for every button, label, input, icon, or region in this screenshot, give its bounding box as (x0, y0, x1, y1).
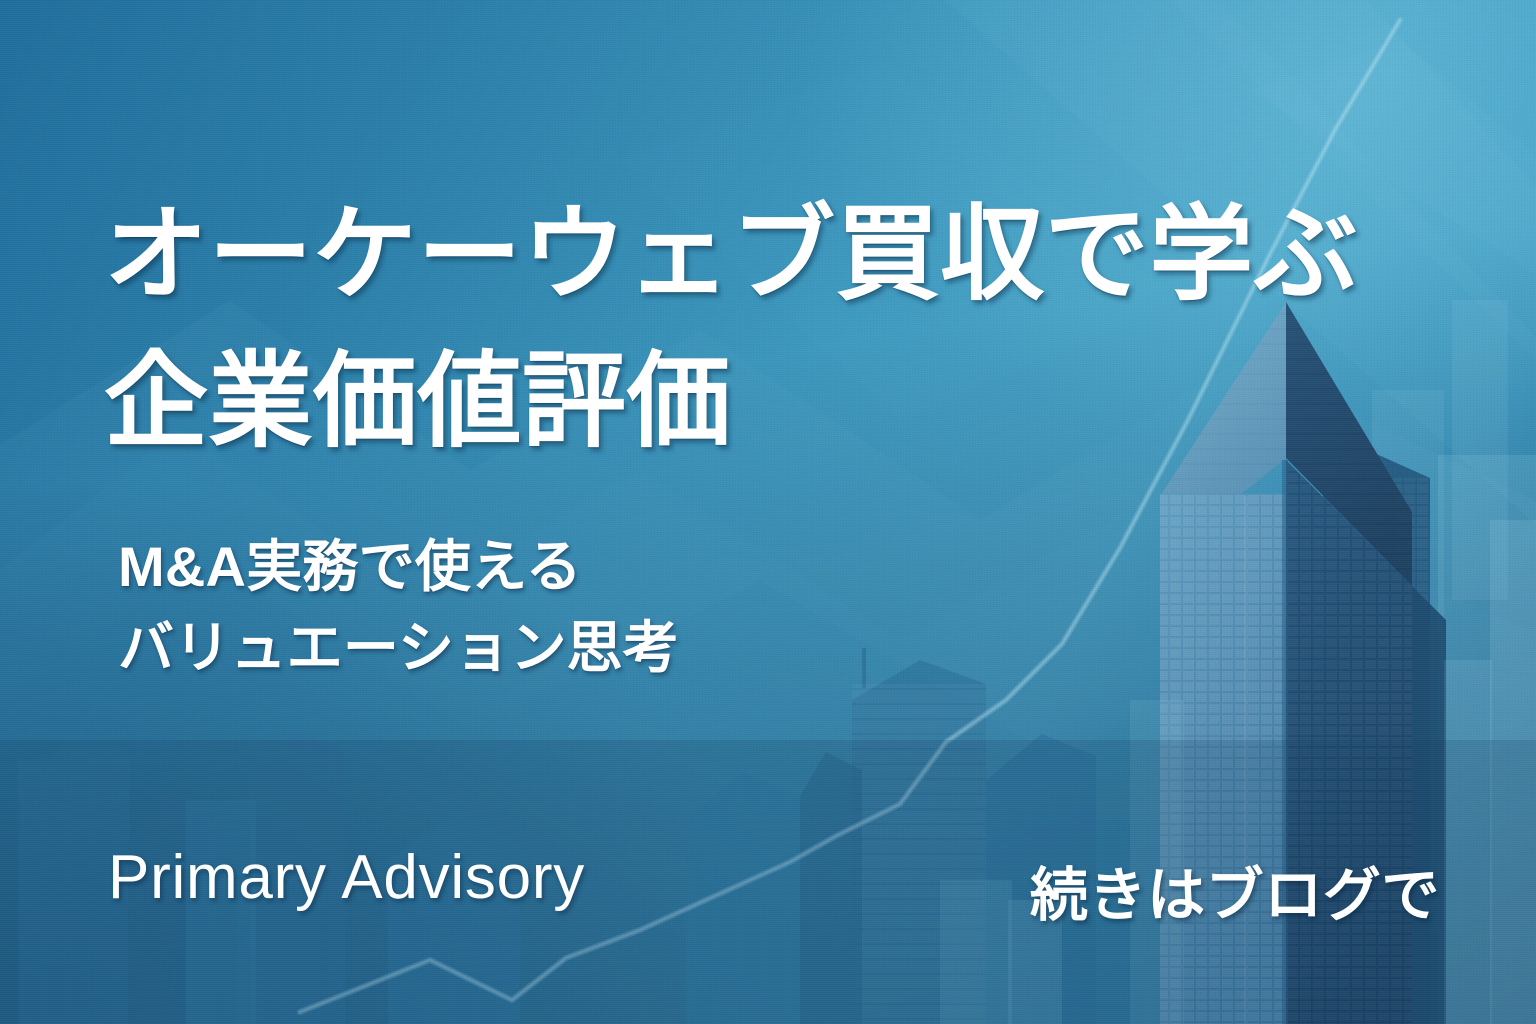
brand-name: Primary Advisory (108, 842, 585, 913)
subtitle: M&A実務で使える バリュエーション思考 (118, 526, 679, 688)
page-title: オーケーウェブ買収で学ぶ 企業価値評価 (104, 182, 1358, 477)
ogp-banner: オーケーウェブ買収で学ぶ 企業価値評価 M&A実務で使える バリュエーション思考… (0, 0, 1536, 1024)
headline-line-1: オーケーウェブ買収で学ぶ (104, 182, 1358, 330)
subtitle-line-2: バリュエーション思考 (118, 607, 679, 688)
cta-label[interactable]: 続きはブログで (1030, 848, 1440, 932)
subtitle-line-1: M&A実務で使える (118, 526, 679, 607)
text-content-layer: オーケーウェブ買収で学ぶ 企業価値評価 M&A実務で使える バリュエーション思考… (0, 0, 1536, 1024)
headline-line-2: 企業価値評価 (104, 329, 1358, 477)
